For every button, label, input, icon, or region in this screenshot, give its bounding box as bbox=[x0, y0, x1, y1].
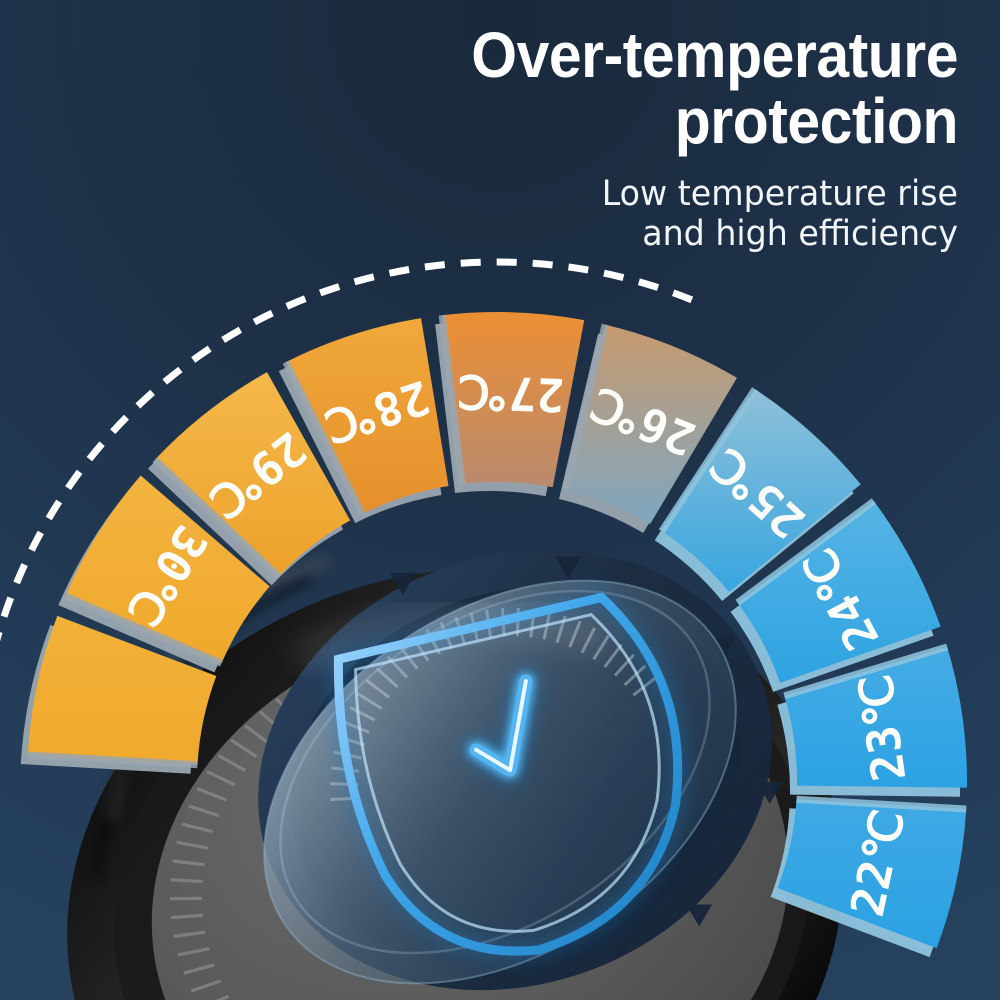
segment-27c-label: 27℃ bbox=[456, 364, 565, 422]
promo-graphic: 30℃29℃28℃27℃26℃25℃24℃23℃22℃ bbox=[0, 0, 1000, 1000]
over-temperature-dial-illustration: 30℃29℃28℃27℃26℃25℃24℃23℃22℃ bbox=[0, 0, 1000, 1000]
